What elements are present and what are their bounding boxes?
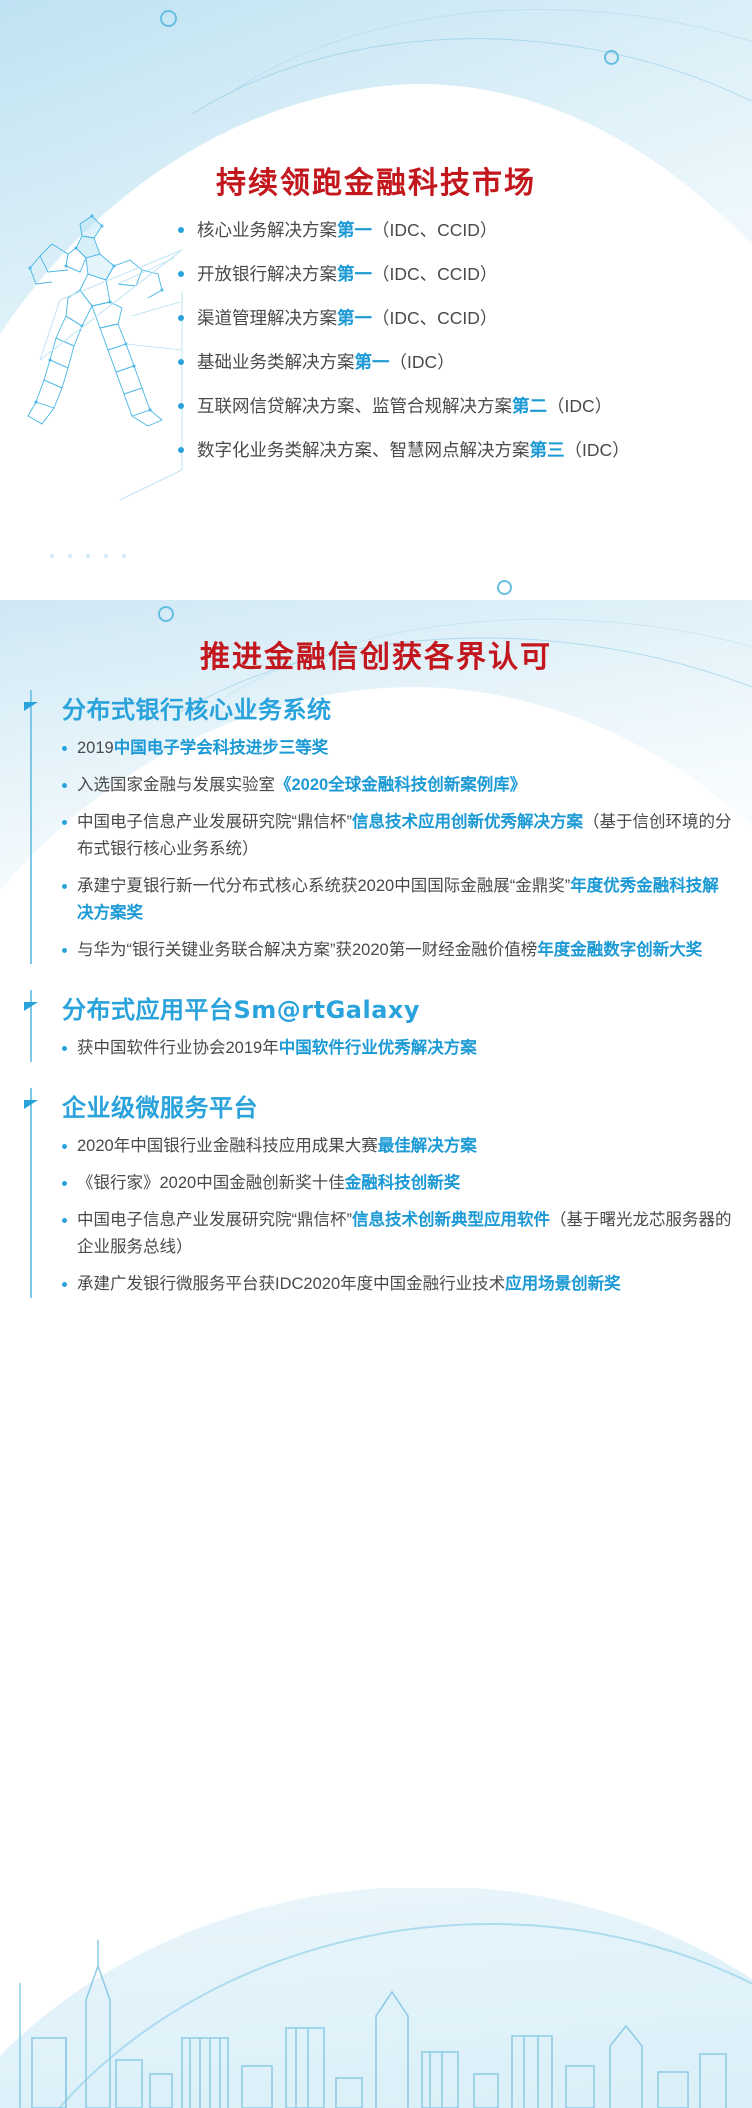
list-item: 《银行家》2020中国金融创新奖十佳金融科技创新奖 [62,1170,752,1197]
list-item-text: 开放银行解决方案第一（IDC、CCID） [197,259,738,289]
bullet-dot-icon [178,227,184,233]
list-item: 承建宁夏银行新一代分布式核心系统获2020中国国际金融展“金鼎奖”年度优秀金融科… [62,873,752,927]
group-rail [30,1088,32,1298]
section1-achievement-list: 核心业务解决方案第一（IDC、CCID）开放银行解决方案第一（IDC、CCID）… [178,215,738,479]
list-item-text: 承建宁夏银行新一代分布式核心系统获2020中国国际金融展“金鼎奖”年度优秀金融科… [77,873,734,927]
award-highlight: 信息技术应用创新优秀解决方案 [352,813,583,831]
decor-ring-4 [158,606,174,622]
bullet-dot-icon [178,359,184,365]
text-plain-lead: 开放银行解决方案 [197,264,337,284]
text-plain-lead: 数字化业务类解决方案、智慧网点解决方案 [197,440,530,460]
bullet-dot-icon [62,884,67,889]
list-item-text: 中国电子信息产业发展研究院“鼎信杯”信息技术创新典型应用软件（基于曙光龙芯服务器… [77,1207,734,1261]
bullet-dot-icon [62,1046,67,1051]
poster-page: 持续领跑金融科技市场 核心业务解决方案第一（IDC、CCID）开放银行解决方案第… [0,0,752,2108]
list-item: 数字化业务类解决方案、智慧网点解决方案第三（IDC） [178,435,738,465]
award-highlight: 年度金融数字创新大奖 [537,941,702,959]
list-item: 开放银行解决方案第一（IDC、CCID） [178,259,738,289]
list-item-text: 数字化业务类解决方案、智慧网点解决方案第三（IDC） [197,435,738,465]
text-plain-lead: 互联网信贷解决方案、监管合规解决方案 [197,396,512,416]
text-plain-lead: 承建宁夏银行新一代分布式核心系统获2020中国国际金融展“金鼎奖” [77,877,570,895]
list-item-text: 承建广发银行微服务平台获IDC2020年度中国金融行业技术应用场景创新奖 [77,1271,734,1298]
flag-marker-icon [24,702,38,711]
rank-highlight: 第一 [355,352,390,372]
text-plain-lead: 2019 [77,739,114,757]
bottom-skyline-area [0,1888,752,2108]
list-item: 与华为“银行关键业务联合解决方案”获2020第一财经金融价值榜年度金融数字创新大… [62,937,752,964]
text-plain-lead: 《银行家》2020中国金融创新奖十佳 [77,1174,345,1192]
section2-title: 推进金融信创获各界认可 [0,632,752,676]
list-item-text: 《银行家》2020中国金融创新奖十佳金融科技创新奖 [77,1170,734,1197]
text-plain-lead: 获中国软件行业协会2019年 [77,1039,279,1057]
flag-marker-icon [24,1002,38,1011]
award-highlight: 应用场景创新奖 [505,1275,621,1293]
rank-highlight: 第一 [337,308,372,328]
list-item-text: 2019中国电子学会科技进步三等奖 [77,735,734,762]
list-item: 渠道管理解决方案第一（IDC、CCID） [178,303,738,333]
bullet-dot-icon [178,447,184,453]
bullet-dot-icon [62,746,67,751]
list-item-text: 核心业务解决方案第一（IDC、CCID） [197,215,738,245]
decor-ring-2 [604,50,619,65]
list-item: 承建广发银行微服务平台获IDC2020年度中国金融行业技术应用场景创新奖 [62,1271,752,1298]
bullet-dot-icon [62,820,67,825]
text-plain-lead: 核心业务解决方案 [197,220,337,240]
bottom-arc-stroke [0,1888,752,2108]
section1-title: 持续领跑金融科技市场 [0,158,752,202]
group-item-list: 2020年中国银行业金融科技应用成果大赛最佳解决方案《银行家》2020中国金融创… [62,1133,752,1298]
bullet-dot-icon [62,1282,67,1287]
text-plain-source: （IDC、CCID） [372,308,497,328]
award-highlight: 中国软件行业优秀解决方案 [279,1039,477,1057]
list-item-text: 入选国家金融与发展实验室《2020全球金融科技创新案例库》 [77,772,734,799]
award-highlight: 《2020全球金融科技创新案例库》 [275,776,526,794]
rank-highlight: 第一 [337,220,372,240]
text-plain-lead: 2020年中国银行业金融科技应用成果大赛 [77,1137,378,1155]
bullet-dot-icon [62,1218,67,1223]
bullet-dot-icon [62,783,67,788]
group-rail [30,690,32,964]
list-item-text: 渠道管理解决方案第一（IDC、CCID） [197,303,738,333]
bullet-dot-icon [178,315,184,321]
decor-ring-1 [160,10,177,27]
list-item: 中国电子信息产业发展研究院“鼎信杯”信息技术应用创新优秀解决方案（基于信创环境的… [62,809,752,863]
list-item: 2020年中国银行业金融科技应用成果大赛最佳解决方案 [62,1133,752,1160]
text-plain-lead: 与华为“银行关键业务联合解决方案”获2020第一财经金融价值榜 [77,941,537,959]
award-highlight: 金融科技创新奖 [345,1174,461,1192]
bullet-dot-icon [178,271,184,277]
section2-groups: 分布式银行核心业务系统2019中国电子学会科技进步三等奖入选国家金融与发展实验室… [0,690,752,1324]
text-plain-source: （IDC） [547,396,612,416]
group-heading: 分布式银行核心业务系统 [62,690,752,725]
decor-ring-3 [497,580,512,595]
group-heading: 企业级微服务平台 [62,1088,752,1123]
award-highlight: 最佳解决方案 [378,1137,477,1155]
text-plain-lead: 渠道管理解决方案 [197,308,337,328]
award-group: 分布式应用平台Sm@rtGalaxy获中国软件行业协会2019年中国软件行业优秀… [0,990,752,1062]
award-highlight: 中国电子学会科技进步三等奖 [114,739,329,757]
text-plain-source: （IDC） [565,440,630,460]
text-plain-lead: 承建广发银行微服务平台获IDC2020年度中国金融行业技术 [77,1275,505,1293]
rank-highlight: 第三 [530,440,565,460]
list-item-text: 互联网信贷解决方案、监管合规解决方案第二（IDC） [197,391,738,421]
award-group: 企业级微服务平台2020年中国银行业金融科技应用成果大赛最佳解决方案《银行家》2… [0,1088,752,1298]
group-item-list: 获中国软件行业协会2019年中国软件行业优秀解决方案 [62,1035,752,1062]
award-highlight: 信息技术创新典型应用软件 [352,1211,550,1229]
text-plain-source: （IDC、CCID） [372,264,497,284]
city-skyline-icon [0,1888,752,2108]
text-plain-lead: 基础业务类解决方案 [197,352,355,372]
rank-highlight: 第一 [337,264,372,284]
group-heading: 分布式应用平台Sm@rtGalaxy [62,990,752,1025]
list-item: 基础业务类解决方案第一（IDC） [178,347,738,377]
list-item: 中国电子信息产业发展研究院“鼎信杯”信息技术创新典型应用软件（基于曙光龙芯服务器… [62,1207,752,1261]
list-item-text: 基础业务类解决方案第一（IDC） [197,347,738,377]
bullet-dot-icon [62,1144,67,1149]
running-man-polygon-icon [22,210,192,430]
list-item-text: 与华为“银行关键业务联合解决方案”获2020第一财经金融价值榜年度金融数字创新大… [77,937,734,964]
list-item-text: 获中国软件行业协会2019年中国软件行业优秀解决方案 [77,1035,734,1062]
text-plain-lead: 中国电子信息产业发展研究院“鼎信杯” [77,1211,352,1229]
list-item: 核心业务解决方案第一（IDC、CCID） [178,215,738,245]
group-rail [30,990,32,1062]
text-plain-lead: 入选国家金融与发展实验室 [77,776,275,794]
bullet-dot-icon [178,403,184,409]
bottom-arc-fill [0,1888,752,2108]
group-item-list: 2019中国电子学会科技进步三等奖入选国家金融与发展实验室《2020全球金融科技… [62,735,752,964]
list-item: 入选国家金融与发展实验室《2020全球金融科技创新案例库》 [62,772,752,799]
list-item: 获中国软件行业协会2019年中国软件行业优秀解决方案 [62,1035,752,1062]
text-plain-source: （IDC） [390,352,455,372]
list-item: 2019中国电子学会科技进步三等奖 [62,735,752,762]
award-group: 分布式银行核心业务系统2019中国电子学会科技进步三等奖入选国家金融与发展实验室… [0,690,752,964]
list-item: 互联网信贷解决方案、监管合规解决方案第二（IDC） [178,391,738,421]
text-plain-lead: 中国电子信息产业发展研究院“鼎信杯” [77,813,352,831]
text-plain-source: （IDC、CCID） [372,220,497,240]
flag-marker-icon [24,1100,38,1109]
rank-highlight: 第二 [512,396,547,416]
list-item-text: 2020年中国银行业金融科技应用成果大赛最佳解决方案 [77,1133,734,1160]
bullet-dot-icon [62,1181,67,1186]
list-item-text: 中国电子信息产业发展研究院“鼎信杯”信息技术应用创新优秀解决方案（基于信创环境的… [77,809,734,863]
bullet-dot-icon [62,948,67,953]
